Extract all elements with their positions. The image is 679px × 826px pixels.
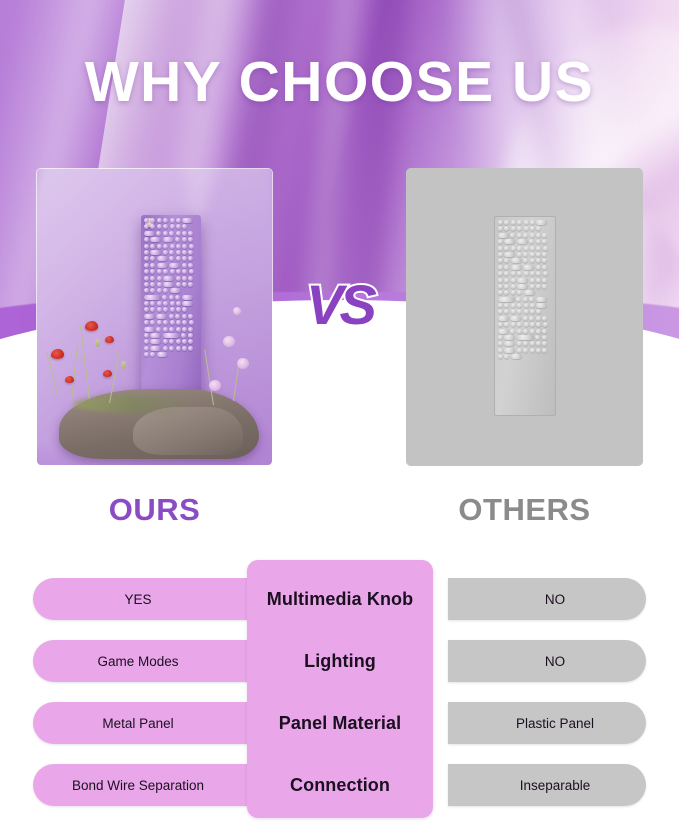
- keycap: [176, 224, 181, 229]
- keycap: [536, 220, 547, 225]
- keycap: [511, 226, 516, 231]
- keycap: [182, 250, 187, 255]
- keycap: [182, 263, 187, 268]
- keycap: [504, 258, 509, 263]
- keycap: [498, 252, 503, 257]
- comparison-table: Multimedia KnobLightingPanel MaterialCon…: [0, 560, 679, 826]
- keycap: [150, 352, 155, 357]
- rock-prop: [133, 407, 243, 455]
- keycap: [163, 237, 174, 242]
- keycap: [542, 258, 547, 263]
- keycap: [511, 220, 516, 225]
- keycap: [542, 348, 547, 353]
- keycap: [498, 233, 509, 238]
- keycap: [529, 239, 534, 244]
- keycap: [156, 231, 161, 236]
- keycap: [188, 256, 193, 261]
- others-value-text: NO: [545, 592, 565, 607]
- page-title: WHY CHOOSE US: [0, 48, 679, 116]
- keycap: [188, 339, 193, 344]
- keycap: [536, 348, 541, 353]
- keycap: [157, 256, 168, 261]
- keycap: [542, 239, 547, 244]
- keycap: [543, 246, 548, 251]
- feature-label: Multimedia Knob: [247, 578, 433, 620]
- keycap: [504, 220, 509, 225]
- keycap: [144, 352, 149, 357]
- keycap: [517, 252, 522, 257]
- keycap: [536, 233, 541, 238]
- keycap: [536, 265, 541, 270]
- keycap: [517, 341, 522, 346]
- keycap: [144, 256, 149, 261]
- keycap: [175, 237, 180, 242]
- keycap: [157, 244, 162, 249]
- keycap: [150, 250, 161, 255]
- keycap: [542, 252, 547, 257]
- keycap: [170, 244, 175, 249]
- keycap: [530, 348, 535, 353]
- keycap: [511, 354, 522, 359]
- feature-label: Connection: [247, 764, 433, 806]
- keycap: [169, 250, 174, 255]
- keycap: [498, 226, 503, 231]
- keycap: [498, 220, 503, 225]
- keycap: [523, 341, 528, 346]
- keycap: [163, 250, 168, 255]
- ours-value-text: Bond Wire Separation: [72, 778, 204, 793]
- keycap: [523, 258, 528, 263]
- keycap: [504, 348, 515, 353]
- keycap: [182, 339, 187, 344]
- keycap: [498, 258, 503, 263]
- keycap: [144, 244, 149, 249]
- keycap: [524, 226, 529, 231]
- keycap: [530, 233, 535, 238]
- keycap: [188, 346, 193, 351]
- keycap: [182, 218, 193, 223]
- keycap: [182, 224, 187, 229]
- keycap: [504, 252, 515, 257]
- keycap: [523, 265, 534, 270]
- vs-badge: VS: [0, 272, 679, 337]
- dried-blossom: [237, 358, 249, 369]
- keycap: [144, 237, 149, 242]
- keycap: [542, 233, 547, 238]
- keycap: [157, 224, 162, 229]
- keycap: [163, 224, 168, 229]
- poppy-flower: [105, 336, 114, 343]
- keycap: [144, 218, 149, 223]
- keycap: [498, 354, 503, 359]
- poppy-flower: [103, 370, 112, 377]
- keycap: [170, 224, 175, 229]
- keycap: [504, 265, 509, 270]
- keycap: [150, 256, 155, 261]
- keycap: [163, 218, 168, 223]
- keycap: [188, 263, 193, 268]
- keycap: [504, 246, 509, 251]
- keycap: [536, 246, 541, 251]
- keycap: [524, 246, 529, 251]
- keycap: [169, 346, 174, 351]
- keycap: [498, 348, 503, 353]
- ours-value-pill: Game Modes: [33, 640, 273, 682]
- keycap: [536, 239, 541, 244]
- keycap: [510, 233, 515, 238]
- keycap: [188, 237, 193, 242]
- keycap: [144, 224, 149, 229]
- keycap: [176, 256, 181, 261]
- keycap: [157, 352, 168, 357]
- keycap: [150, 218, 155, 223]
- keycap: [144, 263, 149, 268]
- keycap: [542, 265, 547, 270]
- keycap: [157, 263, 168, 268]
- keycap: [176, 339, 181, 344]
- poppy-flower: [65, 376, 74, 383]
- keycap: [176, 231, 181, 236]
- keycap: [163, 339, 168, 344]
- keycap: [517, 220, 522, 225]
- keycap: [169, 263, 180, 268]
- keycap: [523, 252, 528, 257]
- keycap: [188, 231, 193, 236]
- ours-value-pill: Bond Wire Separation: [33, 764, 273, 806]
- keycap: [182, 244, 187, 249]
- flower-bud: [121, 361, 126, 369]
- keycap: [150, 237, 161, 242]
- keycap: [189, 244, 194, 249]
- keycap: [536, 258, 541, 263]
- dried-blossom: [223, 336, 235, 347]
- column-label-others: OTHERS: [406, 492, 643, 528]
- keycap: [524, 220, 529, 225]
- keycap: [176, 218, 181, 223]
- keycap: [176, 346, 181, 351]
- flower-bud: [95, 339, 100, 347]
- feature-label: Panel Material: [247, 702, 433, 744]
- others-value-pill: Plastic Panel: [448, 702, 646, 744]
- ours-value-pill: Metal Panel: [33, 702, 273, 744]
- keycap: [504, 354, 509, 359]
- keycap: [169, 339, 174, 344]
- keycap: [530, 258, 535, 263]
- poppy-flower: [51, 349, 64, 359]
- keycap: [530, 226, 535, 231]
- keycap: [523, 233, 528, 238]
- keycap: [517, 233, 522, 238]
- column-label-ours: OURS: [36, 492, 273, 528]
- keycap: [144, 231, 155, 236]
- moss-patch: [73, 395, 193, 413]
- keycap: [176, 250, 181, 255]
- keycap: [504, 239, 515, 244]
- keycap: [498, 265, 503, 270]
- keycap: [150, 244, 155, 249]
- keycap: [163, 231, 168, 236]
- keycap: [517, 226, 522, 231]
- keycap: [163, 244, 168, 249]
- keycap: [498, 239, 503, 244]
- keycap: [182, 346, 187, 351]
- feature-label: Lighting: [247, 640, 433, 682]
- keycap: [523, 348, 528, 353]
- keycap: [530, 246, 535, 251]
- keycap: [498, 341, 503, 346]
- keycap: [530, 252, 535, 257]
- keycap: [144, 339, 149, 344]
- others-value-text: Inseparable: [520, 778, 591, 793]
- keycap: [530, 220, 535, 225]
- keycap: [150, 224, 155, 229]
- keycap: [517, 348, 522, 353]
- keycap: [504, 341, 515, 346]
- keycap: [170, 218, 175, 223]
- keycap: [536, 341, 541, 346]
- keycap: [517, 246, 522, 251]
- keycap: [530, 341, 535, 346]
- keycap: [188, 250, 193, 255]
- ours-value-pill: YES: [33, 578, 273, 620]
- keycap: [169, 231, 174, 236]
- keycap: [511, 265, 522, 270]
- keycap: [144, 250, 149, 255]
- keycap: [182, 231, 187, 236]
- others-value-text: Plastic Panel: [516, 716, 594, 731]
- keycap: [157, 218, 162, 223]
- others-value-pill: NO: [448, 578, 646, 620]
- dried-blossom: [209, 380, 221, 391]
- keycap: [163, 346, 168, 351]
- keycap: [169, 256, 174, 261]
- feature-column-panel: Multimedia KnobLightingPanel MaterialCon…: [247, 560, 433, 818]
- ours-value-text: YES: [124, 592, 151, 607]
- keycap: [542, 341, 547, 346]
- keycap: [511, 246, 516, 251]
- keycap: [511, 258, 522, 263]
- keycap: [144, 346, 149, 351]
- keycap: [517, 239, 528, 244]
- others-value-pill: Inseparable: [448, 764, 646, 806]
- keycap: [150, 339, 161, 344]
- keycap: [536, 252, 541, 257]
- keycap: [182, 237, 187, 242]
- keycap: [182, 256, 187, 261]
- ours-value-text: Metal Panel: [102, 716, 173, 731]
- keycap: [536, 226, 541, 231]
- keycap: [150, 346, 161, 351]
- keycap: [498, 246, 503, 251]
- keycap: [504, 226, 509, 231]
- ours-value-text: Game Modes: [97, 654, 178, 669]
- keycap: [176, 244, 181, 249]
- others-value-pill: NO: [448, 640, 646, 682]
- keycap: [150, 263, 155, 268]
- others-value-text: NO: [545, 654, 565, 669]
